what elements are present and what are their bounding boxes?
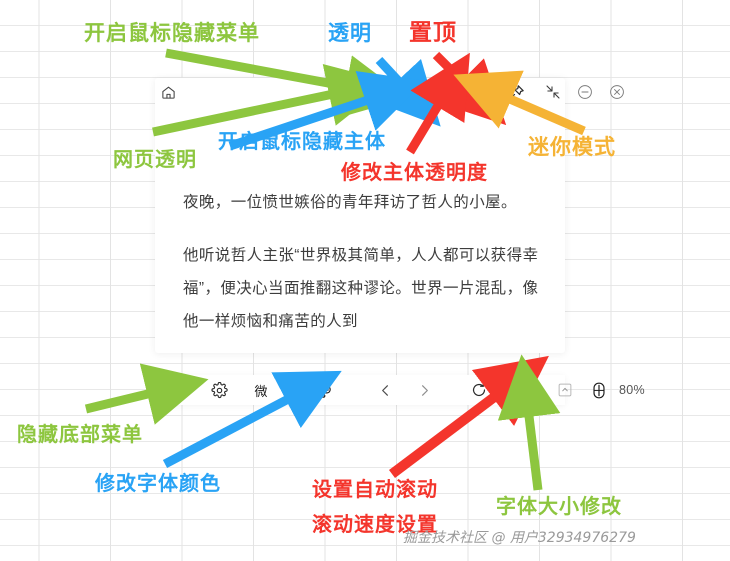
zoom-level-label: 80%: [619, 383, 645, 397]
annotation-page-transparency: 网页透明: [113, 143, 197, 172]
minimize-arrows-icon[interactable]: [541, 81, 564, 104]
annotation-transparent: 透明: [328, 17, 372, 47]
font-wei-icon[interactable]: 微: [250, 377, 272, 403]
annotation-change-font-color: 修改字体颜色: [95, 467, 221, 496]
copy-layers-icon[interactable]: [447, 81, 470, 104]
half-fill-bottom-circle-icon[interactable]: [419, 81, 442, 104]
scroll-speed-icon[interactable]: [554, 377, 576, 403]
next-page-icon[interactable]: [414, 377, 434, 403]
reader-paragraph: 他听说哲人主张“世界极其简单，人人都可以获得幸福”，便决心当面推翻这种谬论。世界…: [183, 239, 543, 338]
annotation-hide-menu-on-hover: 开启鼠标隐藏菜单: [84, 17, 260, 47]
half-fill-top-circle-icon[interactable]: [391, 81, 414, 104]
gear-icon[interactable]: [208, 377, 230, 403]
home-icon[interactable]: [157, 81, 180, 104]
reader-bottom-toolbar: 微: [155, 375, 565, 405]
pin-top-icon[interactable]: [505, 81, 528, 104]
color-palette-icon[interactable]: [312, 377, 334, 403]
reader-paragraph: 夜晚，一位愤世嫉俗的青年拜访了哲人的小屋。: [183, 186, 543, 219]
reader-top-toolbar: [155, 78, 565, 106]
eye-icon[interactable]: [163, 377, 185, 403]
water-drop-icon[interactable]: [362, 81, 385, 104]
contrast-adjust-icon[interactable]: [476, 81, 499, 104]
annotation-font-size: 字体大小修改: [496, 490, 622, 519]
annotation-hide-body-on-hover: 开启鼠标隐藏主体: [218, 125, 386, 154]
font-size-icon[interactable]: [588, 377, 610, 403]
annotation-auto-scroll: 设置自动滚动: [312, 473, 438, 502]
annotation-always-on-top: 置顶: [409, 13, 457, 47]
minus-circle-icon[interactable]: [573, 81, 596, 104]
close-circle-icon[interactable]: [605, 81, 628, 104]
watermark: 掘金技术社区 @ 用户32934976279: [403, 527, 636, 547]
auto-scroll-icon[interactable]: [468, 377, 490, 403]
prev-page-icon[interactable]: [375, 377, 395, 403]
annotation-body-opacity: 修改主体透明度: [341, 156, 488, 185]
annotation-mini-mode: 迷你模式: [528, 131, 616, 161]
annotation-hide-bottom-menu: 隐藏底部菜单: [17, 418, 143, 447]
